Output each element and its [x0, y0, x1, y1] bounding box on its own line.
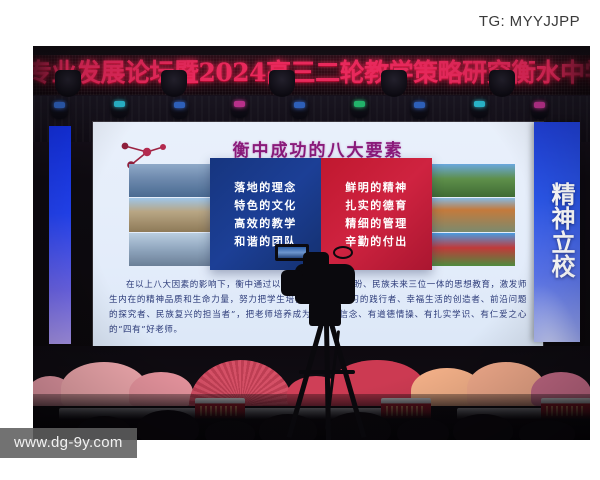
element-item: 高效的教学: [234, 216, 297, 231]
campus-photo: [427, 233, 515, 266]
audience-head: [519, 420, 575, 440]
campus-photo: [129, 198, 217, 231]
audience-head: [205, 420, 255, 440]
camera-lens-icon: [281, 270, 303, 296]
stage-spotlight: [161, 70, 187, 97]
campus-photo: [427, 198, 515, 231]
conference-photo: 专业发展论坛暨2024高三二轮教学策略研究衡水中学现 衡中成功的八大要素: [33, 46, 590, 440]
tripod-brace: [299, 370, 355, 374]
campus-photo: [427, 164, 515, 197]
campus-photo: [129, 233, 217, 266]
site-watermark: www.dg-9y.com: [0, 428, 137, 458]
campus-photo: [129, 164, 217, 197]
stage-spotlight: [55, 70, 81, 97]
element-item: 落地的理念: [234, 180, 297, 195]
stage-spotlight: [489, 70, 515, 97]
element-item: 鲜明的精神: [345, 180, 408, 195]
stage-spotlight: [381, 70, 407, 97]
video-camera-on-tripod: [269, 244, 389, 440]
campus-photo-strip-right: [427, 164, 515, 266]
left-blue-banner: [49, 126, 71, 344]
element-item: 特色的文化: [234, 198, 297, 213]
element-item: 精细的管理: [345, 216, 408, 231]
tg-handle-badge: TG: MYYJJPP: [467, 8, 592, 36]
tripod-head: [309, 302, 341, 326]
camera-microphone-icon: [333, 246, 353, 259]
right-vertical-banner: 精神立校: [534, 122, 580, 342]
audience-head: [137, 410, 199, 440]
audience-head: [453, 414, 513, 440]
tripod-leg: [287, 323, 324, 438]
campus-photo-strip-left: [129, 164, 217, 266]
element-item: 扎实的德育: [345, 198, 408, 213]
stage-spotlight: [269, 70, 295, 97]
camera-body: [295, 264, 355, 304]
tripod-leg: [329, 323, 366, 438]
audience-head: [397, 418, 449, 440]
screenshot-root: TG: MYYJJPP 专业发展论坛暨2024高三二轮教学策略研究衡水中学现: [0, 0, 600, 480]
